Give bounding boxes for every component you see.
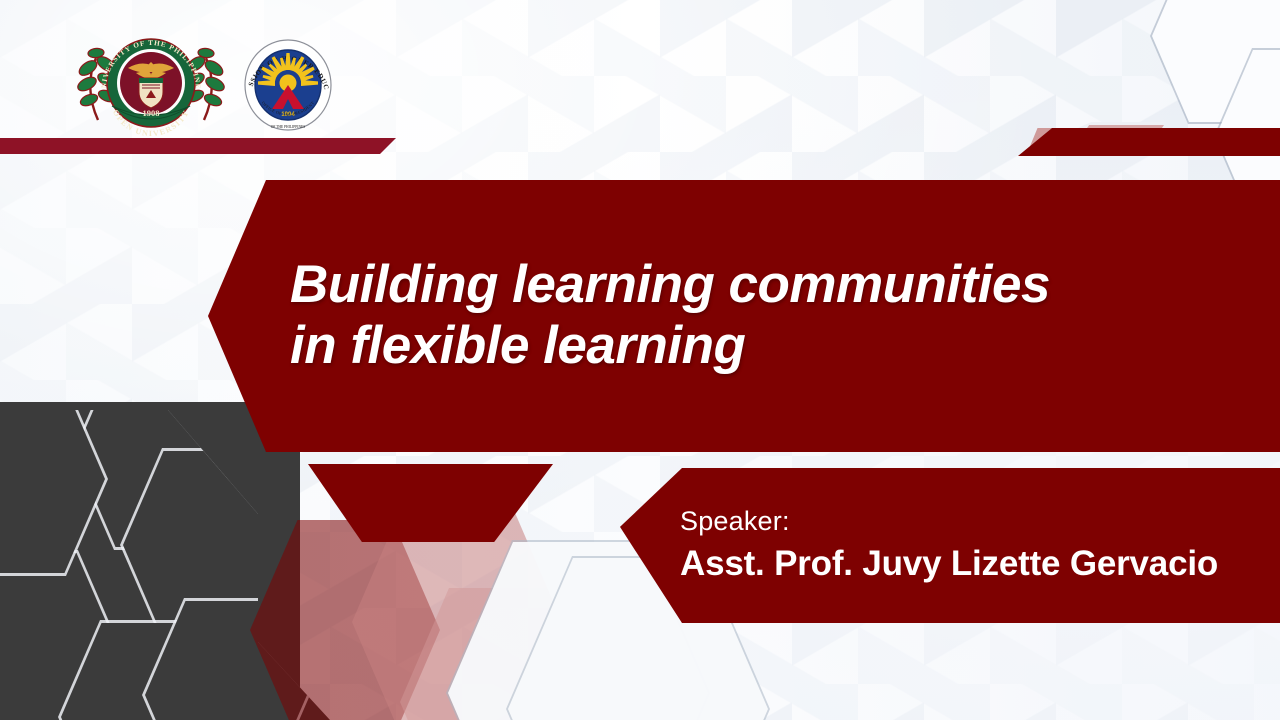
speaker-banner: Speaker: Asst. Prof. Juvy Lizette Gervac… <box>620 468 1280 623</box>
ched-seal-icon: COMMISSION ON HIGHER EDUCATION <box>242 33 334 133</box>
title-banner: Building learning communities in flexibl… <box>208 180 1280 452</box>
title-line-2: in flexible learning <box>290 316 745 375</box>
up-open-university-seal-icon: UNIVERSITY OF THE PHILIPPINES OPEN UNIVE… <box>66 28 236 138</box>
presentation-slide: Building learning communities in flexibl… <box>0 0 1280 720</box>
svg-text:1908: 1908 <box>143 108 160 118</box>
speaker-label: Speaker: <box>680 505 1280 539</box>
page-title: Building learning communities in flexibl… <box>290 255 1050 377</box>
title-line-1: Building learning communities <box>290 255 1050 314</box>
svg-text:OF THE PHILIPPINES: OF THE PHILIPPINES <box>271 125 305 129</box>
accent-bar-top-right <box>1018 128 1280 156</box>
speaker-name: Asst. Prof. Juvy Lizette Gervacio <box>680 541 1280 587</box>
accent-bar-top-left <box>0 138 396 154</box>
logo-row: UNIVERSITY OF THE PHILIPPINES OPEN UNIVE… <box>66 28 334 138</box>
